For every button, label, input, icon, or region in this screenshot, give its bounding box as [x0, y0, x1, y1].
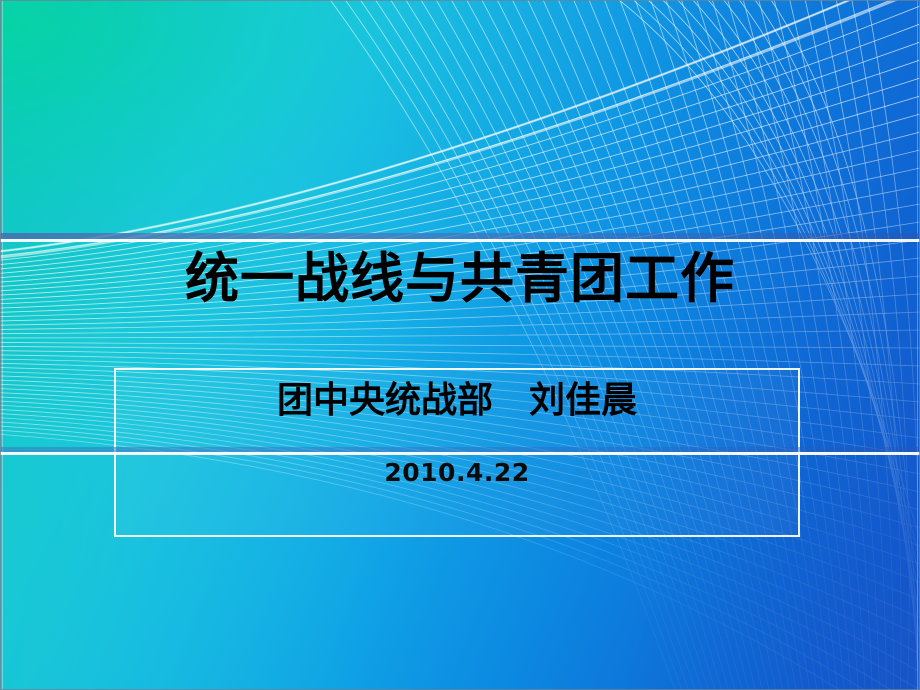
page-title: 统一战线与共青团工作 [0, 248, 920, 308]
mid-white-rule [0, 452, 920, 455]
presentation-date: 2010.4.22 [114, 458, 800, 487]
presenter-line: 团中央统战部 刘佳晨 [114, 378, 800, 423]
guilloche-fan-decoration [0, 0, 920, 690]
title-slide: 统一战线与共青团工作 团中央统战部 刘佳晨 2010.4.22 [0, 0, 920, 690]
top-band-white-rule [0, 239, 920, 242]
slide-left-hairline [2, 0, 3, 690]
slide-right-hairline [917, 0, 918, 690]
